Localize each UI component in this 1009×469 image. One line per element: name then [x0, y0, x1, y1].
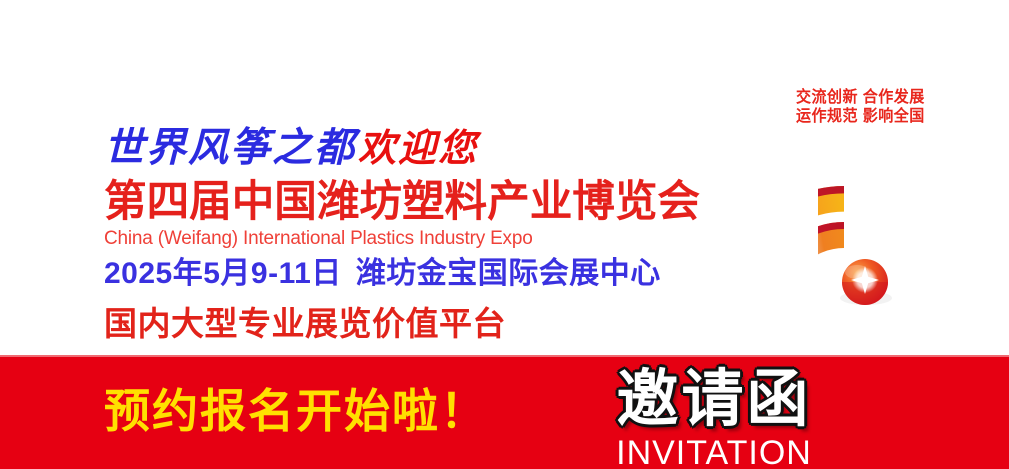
invitation-title-en: INVITATION	[584, 433, 844, 469]
footer-red-band: 预约报名开始啦！ 邀请函 INVITATION	[0, 355, 1009, 469]
event-date: 2025年5月9-11日	[104, 257, 342, 290]
slogan-line-2: 运作规范 影响全国	[796, 107, 975, 126]
date-venue-line: 2025年5月9-11日潍坊金宝国际会展中心	[104, 255, 744, 293]
tagline-text: 国内大型专业展览价值平台	[104, 304, 744, 344]
slogan-line-1: 交流创新 合作发展	[796, 88, 975, 107]
red-band-top-edge	[0, 355, 1009, 357]
event-venue: 潍坊金宝国际会展中心	[356, 257, 661, 290]
welcome-city-text: 世界风筝之都	[104, 125, 356, 170]
page-title: 第四届中国潍坊塑料产业博览会	[104, 178, 738, 226]
welcome-line: 世界风筝之都欢迎您	[104, 120, 744, 176]
signal-arcs-logo	[818, 176, 994, 326]
logo-star-sparkles	[851, 222, 971, 294]
english-subtitle: China (Weifang) International Plastics I…	[104, 227, 744, 251]
headline-block: 世界风筝之都欢迎您 第四届中国潍坊塑料产业博览会 China (Weifang)…	[104, 120, 744, 344]
invitation-group: 邀请函 INVITATION	[584, 365, 844, 469]
expo-invitation-banner: 交流创新 合作发展 运作规范 影响全国 世界风筝之都欢迎您 第四届中国潍坊塑料产…	[0, 0, 1009, 469]
invitation-title-cn: 邀请函	[584, 365, 844, 435]
welcome-greeting-text: 欢迎您	[358, 128, 478, 170]
cta-text: 预约报名开始啦！	[104, 383, 534, 439]
slogan-block: 交流创新 合作发展 运作规范 影响全国	[796, 88, 986, 126]
